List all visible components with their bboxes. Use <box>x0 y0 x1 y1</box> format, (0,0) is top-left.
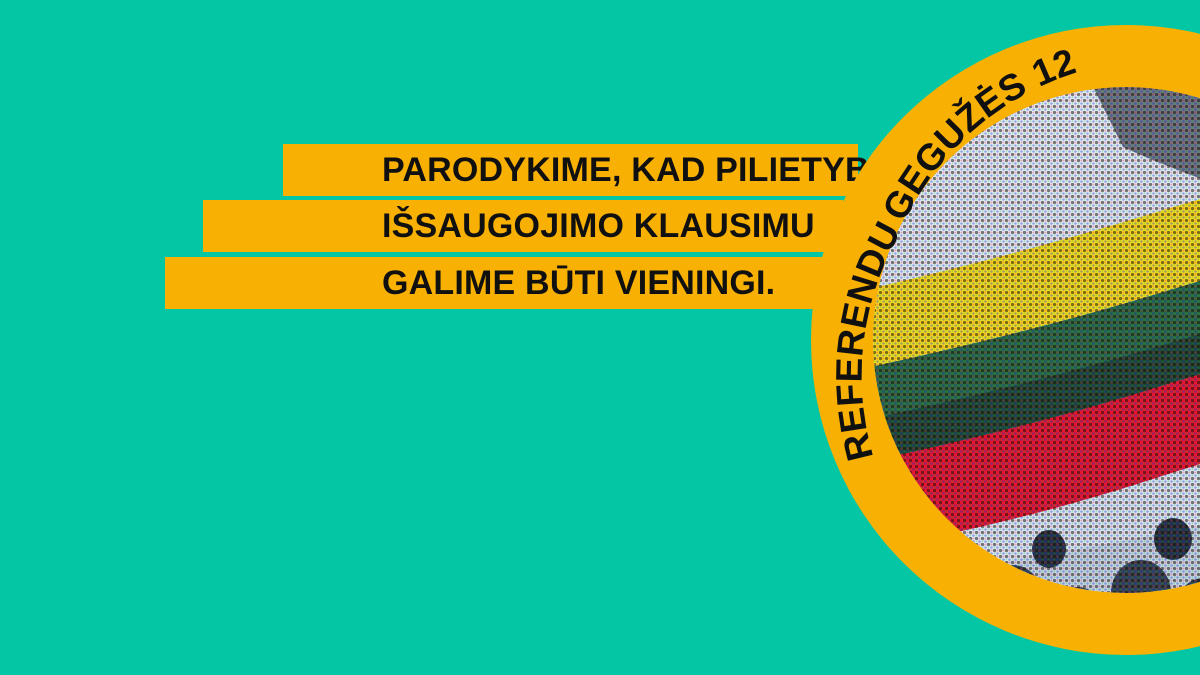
headline-line-2: IŠSAUGOJIMO KLAUSIMU <box>382 200 815 252</box>
bar-separator-2 <box>203 253 822 257</box>
poster-canvas: REFERENDUMAS GEGUŽĖS 12 D. PARODYKIME, K… <box>0 0 1200 675</box>
headline-line-3: GALIME BŪTI VIENINGI. <box>382 257 775 309</box>
bar-separator-1 <box>283 196 847 200</box>
headline-line-1: PARODYKIME, KAD PILIETYBĖS <box>382 144 916 196</box>
